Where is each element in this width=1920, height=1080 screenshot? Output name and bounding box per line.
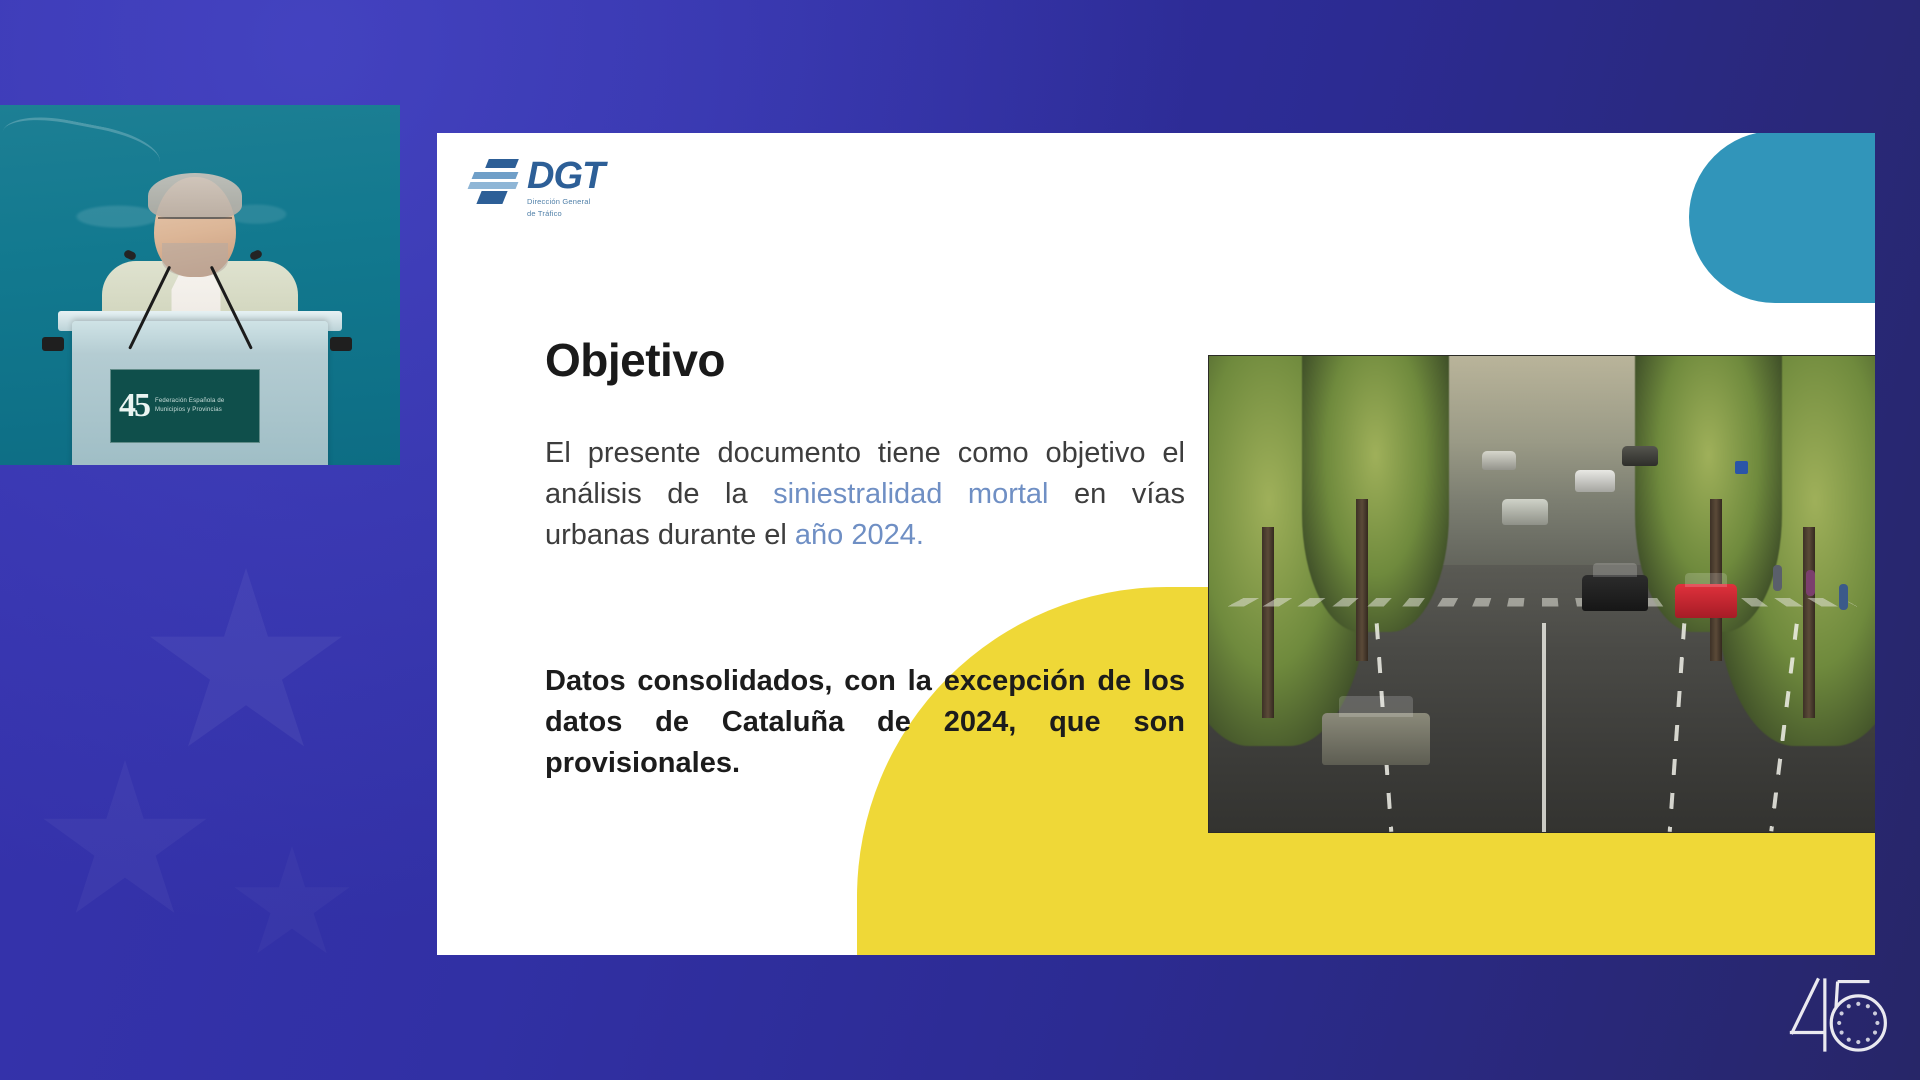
dgt-logo-subtitle-line1: Dirección General	[527, 197, 604, 207]
car-icon	[1575, 470, 1615, 492]
dgt-logo-name: DGT	[527, 157, 604, 195]
presentation-slide: DGT Dirección General de Tráfico Objetiv…	[437, 133, 1875, 955]
speaker-hair	[148, 173, 242, 219]
anniversary-45-logo-icon	[1780, 972, 1892, 1058]
star-decoration-icon	[40, 760, 210, 928]
presentation-stage: 45 Federación Española de Municipios y P…	[0, 0, 1920, 1080]
data-note-paragraph: Datos consolidados, con la excepción de …	[545, 661, 1185, 785]
dgt-logo-subtitle-line2: de Tráfico	[527, 209, 604, 219]
car-icon	[1582, 575, 1648, 611]
objective-highlight-2: año 2024.	[795, 519, 924, 551]
traffic-sign-icon	[1735, 461, 1748, 474]
star-decoration-icon	[146, 568, 346, 764]
dgt-mark-icon	[467, 159, 523, 205]
podium-sign: 45 Federación Española de Municipios y P…	[110, 369, 260, 443]
microphone-base-right	[330, 337, 352, 351]
pedestrian-icon	[1806, 570, 1815, 596]
teal-blob-decoration	[1689, 133, 1875, 303]
microphone-base-left	[42, 337, 64, 351]
car-icon	[1482, 451, 1516, 470]
tree-trunk	[1803, 527, 1815, 717]
page-title: Objetivo	[545, 333, 1185, 387]
tree-trunk	[1262, 527, 1274, 717]
car-icon	[1675, 584, 1737, 618]
lane-marking	[1542, 623, 1546, 832]
objective-highlight-1: siniestralidad mortal	[773, 478, 1048, 510]
car-icon	[1502, 499, 1548, 525]
speaker-beard	[162, 243, 228, 277]
pedestrian-icon	[1773, 565, 1782, 591]
slide-content: Objetivo El presente documento tiene com…	[545, 333, 1185, 784]
podium-sign-organization: Federación Española de Municipios y Prov…	[155, 397, 251, 414]
dgt-logo-text: DGT Dirección General de Tráfico	[527, 157, 604, 219]
glasses-icon	[158, 217, 232, 230]
podium-sign-number: 45	[119, 389, 149, 423]
pedestrian-icon	[1839, 584, 1848, 610]
dgt-logo: DGT Dirección General de Tráfico	[467, 157, 604, 219]
car-icon	[1322, 713, 1430, 765]
tree-canopy-icon	[1302, 355, 1449, 632]
car-icon	[1622, 446, 1658, 466]
speaker-video-feed[interactable]: 45 Federación Española de Municipios y P…	[0, 105, 400, 465]
street-photo	[1208, 355, 1875, 833]
star-decoration-icon	[232, 846, 352, 964]
objective-paragraph: El presente documento tiene como objetiv…	[545, 433, 1185, 557]
tree-trunk	[1356, 499, 1368, 661]
